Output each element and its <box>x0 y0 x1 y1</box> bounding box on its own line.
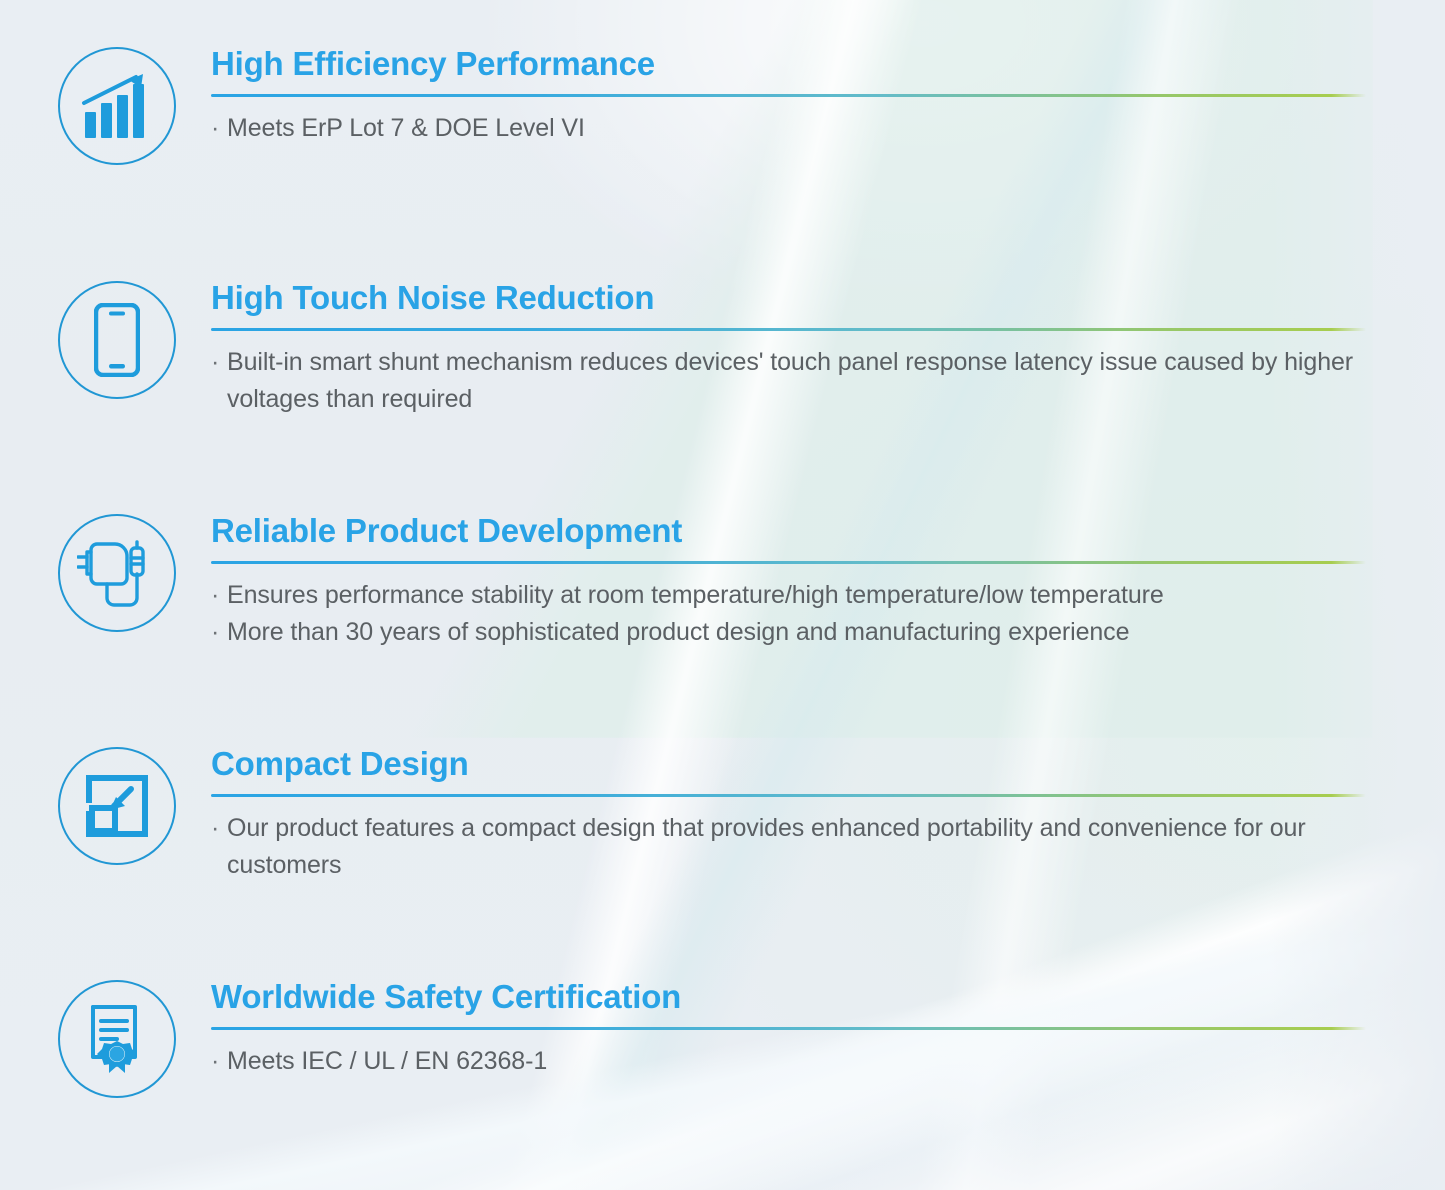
bullet-marker: · <box>211 614 227 651</box>
certificate-seal-icon <box>58 980 176 1098</box>
feature-item-worldwide-safety-certification: Worldwide Safety Certification · Meets I… <box>0 980 1445 1098</box>
shrink-resize-icon <box>58 747 176 865</box>
feature-title: High Efficiency Performance <box>211 47 1366 82</box>
bullet-marker: · <box>211 577 227 614</box>
feature-bullets: · Our product features a compact design … <box>211 810 1366 884</box>
feature-divider <box>211 794 1366 797</box>
bullet-text: More than 30 years of sophisticated prod… <box>227 614 1366 651</box>
bullet-marker: · <box>211 344 227 418</box>
feature-body: Compact Design · Our product features a … <box>211 747 1366 884</box>
feature-bullets: · Built-in smart shunt mechanism reduces… <box>211 344 1366 418</box>
feature-body: High Efficiency Performance · Meets ErP … <box>211 47 1366 147</box>
feature-body: Reliable Product Development · Ensures p… <box>211 514 1366 651</box>
feature-item-compact-design: Compact Design · Our product features a … <box>0 747 1445 884</box>
power-adapter-icon <box>58 514 176 632</box>
feature-icon-slot <box>55 281 179 399</box>
feature-divider <box>211 561 1366 564</box>
feature-divider <box>211 1027 1366 1030</box>
feature-item-high-efficiency-performance: High Efficiency Performance · Meets ErP … <box>0 47 1445 165</box>
bullet-text: Our product features a compact design th… <box>227 810 1366 884</box>
feature-bullet: · More than 30 years of sophisticated pr… <box>211 614 1366 651</box>
feature-bullet: · Ensures performance stability at room … <box>211 577 1366 614</box>
feature-title: Reliable Product Development <box>211 514 1366 549</box>
feature-bullets: · Meets ErP Lot 7 & DOE Level VI <box>211 110 1366 147</box>
bar-chart-growth-icon <box>58 47 176 165</box>
bullet-marker: · <box>211 110 227 147</box>
bullet-marker: · <box>211 1043 227 1080</box>
feature-bullet: · Meets ErP Lot 7 & DOE Level VI <box>211 110 1366 147</box>
feature-icon-slot <box>55 980 179 1098</box>
feature-title: Compact Design <box>211 747 1366 782</box>
feature-icon-slot <box>55 514 179 632</box>
feature-body: Worldwide Safety Certification · Meets I… <box>211 980 1366 1080</box>
smartphone-icon <box>58 281 176 399</box>
feature-bullets: · Meets IEC / UL / EN 62368-1 <box>211 1043 1366 1080</box>
feature-icon-slot <box>55 47 179 165</box>
feature-item-high-touch-noise-reduction: High Touch Noise Reduction · Built-in sm… <box>0 281 1445 418</box>
feature-divider <box>211 94 1366 97</box>
feature-icon-slot <box>55 747 179 865</box>
feature-bullet: · Our product features a compact design … <box>211 810 1366 884</box>
feature-bullet: · Meets IEC / UL / EN 62368-1 <box>211 1043 1366 1080</box>
bullet-text: Meets IEC / UL / EN 62368-1 <box>227 1043 1366 1080</box>
feature-body: High Touch Noise Reduction · Built-in sm… <box>211 281 1366 418</box>
bullet-marker: · <box>211 810 227 884</box>
feature-bullets: · Ensures performance stability at room … <box>211 577 1366 651</box>
bullet-text: Built-in smart shunt mechanism reduces d… <box>227 344 1366 418</box>
feature-bullet: · Built-in smart shunt mechanism reduces… <box>211 344 1366 418</box>
feature-title: Worldwide Safety Certification <box>211 980 1366 1015</box>
bullet-text: Ensures performance stability at room te… <box>227 577 1366 614</box>
feature-title: High Touch Noise Reduction <box>211 281 1366 316</box>
feature-divider <box>211 328 1366 331</box>
bullet-text: Meets ErP Lot 7 & DOE Level VI <box>227 110 1366 147</box>
feature-item-reliable-product-development: Reliable Product Development · Ensures p… <box>0 514 1445 651</box>
